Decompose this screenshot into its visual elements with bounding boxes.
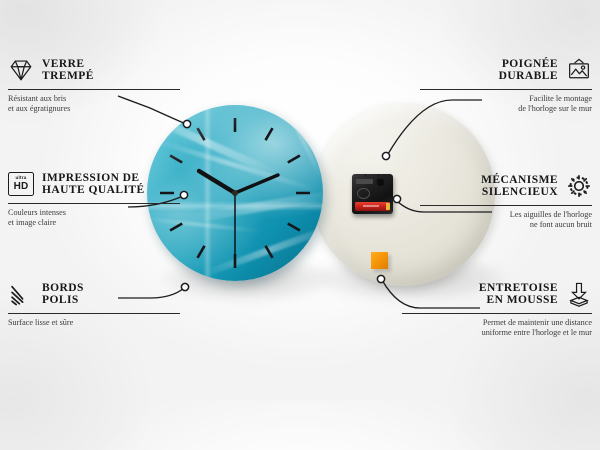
feature-title: ENTRETOISE EN MOUSSE [479,282,558,307]
feature-subtitle: Les aiguilles de l'horloge ne font aucun… [420,210,592,231]
feature-divider [8,203,180,204]
feature-title: MÉCANISME SILENCIEUX [481,174,558,199]
feature-title: BORDS POLIS [42,282,84,307]
battery-positive-terminal [386,203,390,210]
feature-divider [8,313,180,314]
feature-verre-trempe: VERRE TREMPÉ Résistant aux bris et aux é… [8,54,180,114]
infographic-canvas: VERRE TREMPÉ Résistant aux bris et aux é… [0,0,600,400]
clock-movement-quartz [352,174,393,214]
feature-title: VERRE TREMPÉ [42,58,94,83]
badge-hd-label: HD [14,182,29,192]
feature-heading-row: BORDS POLIS [8,278,180,310]
movement-gear-ring [357,188,370,199]
aa-battery [355,202,390,211]
foam-spacer-arrow-icon [566,281,592,307]
picture-hanger-icon [566,57,592,83]
diamond-icon [8,57,34,83]
foam-spacer-pad [371,252,388,269]
feature-poignee-durable: POIGNÉE DURABLE Facilite le montage de l… [420,54,592,114]
feature-entretoise-en-mousse: ENTRETOISE EN MOUSSE Permet de maintenir… [402,278,592,338]
feature-heading-row: ENTRETOISE EN MOUSSE [402,278,592,310]
movement-label-strip [356,179,373,184]
movement-switch [376,178,385,187]
polished-edges-icon [8,281,34,307]
feature-divider [8,89,180,90]
ultra-hd-badge-icon: ultra HD [8,172,34,196]
feature-heading-row: VERRE TREMPÉ [8,54,180,86]
feature-heading-row: MÉCANISME SILENCIEUX [420,170,592,202]
feature-mecanisme-silencieux: MÉCANISME SILENCIEUX Les aiguilles de l'… [420,170,592,230]
feature-divider [420,89,592,90]
feature-heading-row: ultra HD IMPRESSION DE HAUTE QUALITÉ [8,168,180,200]
gear-icon [566,173,592,199]
battery-label-band [363,205,379,207]
feature-subtitle: Facilite le montage de l'horloge sur le … [420,94,592,115]
feature-divider [420,205,592,206]
feature-subtitle: Résistant aux bris et aux égratignures [8,94,180,115]
feature-subtitle: Surface lisse et sûre [8,318,180,328]
feature-subtitle: Permet de maintenir une distance uniform… [402,318,592,339]
feature-title: IMPRESSION DE HAUTE QUALITÉ [42,172,145,197]
feature-divider [402,313,592,314]
feature-heading-row: POIGNÉE DURABLE [420,54,592,86]
feature-bords-polis: BORDS POLIS Surface lisse et sûre [8,278,180,328]
feature-title: POIGNÉE DURABLE [499,58,558,83]
feature-impression-haute-qualite: ultra HD IMPRESSION DE HAUTE QUALITÉ Cou… [8,168,180,228]
movement-hanger-hook [365,174,379,177]
feature-subtitle: Couleurs intenses et image claire [8,208,180,229]
